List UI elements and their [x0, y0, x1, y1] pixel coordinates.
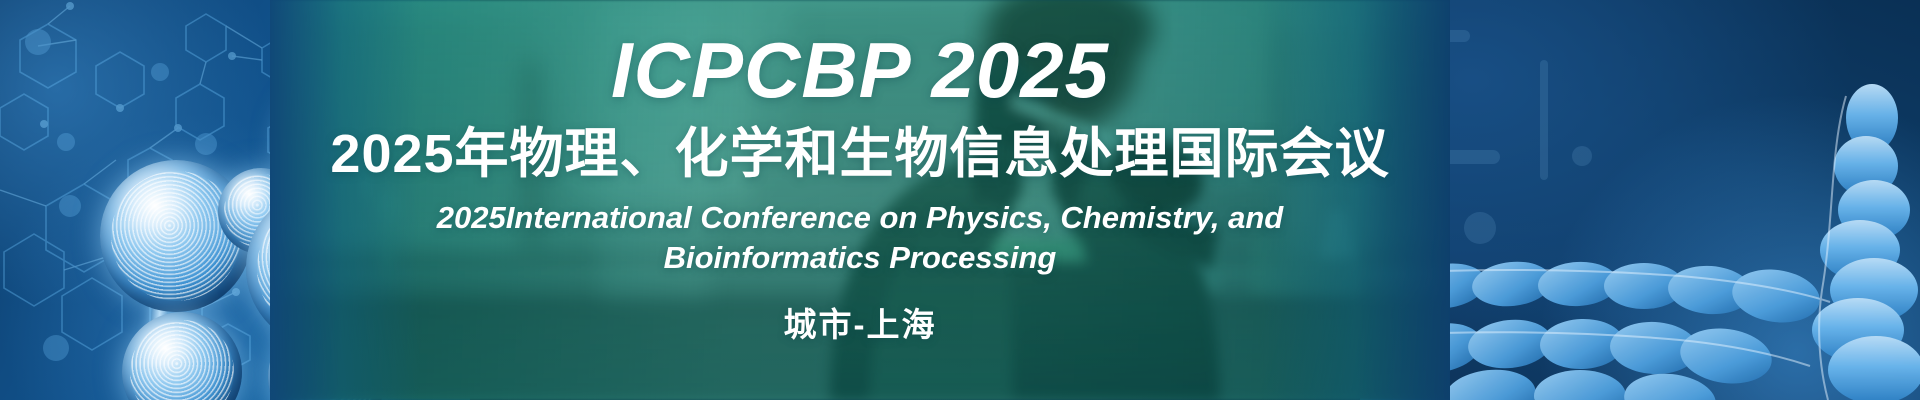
conference-title-chinese: 2025年物理、化学和生物信息处理国际会议: [330, 124, 1389, 184]
conference-title-english: 2025International Conference on Physics,…: [437, 198, 1283, 277]
conference-title-english-line2: Bioinformatics Processing: [437, 238, 1283, 278]
conference-title-english-line1: 2025International Conference on Physics,…: [437, 198, 1283, 238]
conference-banner: ICPCBP 2025 2025年物理、化学和生物信息处理国际会议 2025In…: [0, 0, 1920, 400]
conference-city: 城市-上海: [784, 298, 937, 346]
molecule-atom: [122, 312, 242, 400]
conference-acronym: ICPCBP 2025: [611, 30, 1109, 112]
banner-text-block: ICPCBP 2025 2025年物理、化学和生物信息处理国际会议 2025In…: [270, 0, 1450, 400]
